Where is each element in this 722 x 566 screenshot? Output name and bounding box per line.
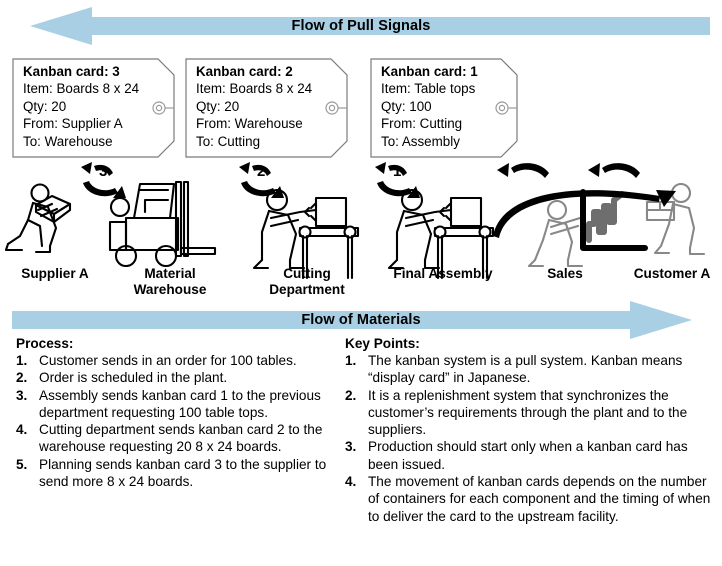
kanban-loop-1-supply-arrow [377,181,420,198]
station-label-supplier-a: Supplier A [0,266,110,282]
station-label-material-warehouse: MaterialWarehouse [110,266,230,298]
station-label-customer-a: Customer A [622,266,722,282]
flow-of-materials-label: Flow of Materials [0,300,722,340]
list-number: 3. [16,387,27,404]
list-item: 3.Production should start only when a ka… [345,438,713,473]
value-stream-figures: 3 2 1 Supplier A MaterialWarehouse Cutti… [0,160,722,300]
process-list: 1.Customer sends in an order for 100 tab… [16,352,346,490]
list-item: 2.It is a replenishment system that sync… [345,387,713,439]
station-label-final-assembly: Final Assembly [378,266,508,282]
list-text: Production should start only when a kanb… [368,439,688,471]
list-text: Cutting department sends kanban card 2 t… [39,422,322,454]
kanban-loop-1-label: 1 [393,163,401,180]
flow-of-pull-signals-banner: Flow of Pull Signals [0,6,722,46]
kanban-card-3-item: Item: Boards 8 x 24 [23,80,139,97]
list-item: 5.Planning sends kanban card 3 to the su… [16,456,346,491]
list-number: 3. [345,438,356,455]
kanban-card-1: Kanban card: 1 Item: Table tops Qty: 100… [370,58,518,158]
kanban-card-3-from: From: Supplier A [23,115,139,132]
list-text: Planning sends kanban card 3 to the supp… [39,457,326,489]
key-points-list: 1.The kanban system is a pull system. Ka… [345,352,713,525]
kanban-card-2-item: Item: Boards 8 x 24 [196,80,312,97]
sales-to-assembly-pull-arrow [497,163,549,178]
process-column: Process: 1.Customer sends in an order fo… [16,336,346,490]
kanban-loop-2-supply-arrow [241,181,284,198]
kanban-card-2-from: From: Warehouse [196,115,312,132]
list-item: 3.Assembly sends kanban card 1 to the pr… [16,387,346,422]
flow-of-pull-signals-label: Flow of Pull Signals [0,6,722,46]
list-text: Order is scheduled in the plant. [39,370,227,385]
flow-of-materials-banner: Flow of Materials [0,300,722,340]
list-text: It is a replenishment system that synchr… [368,388,687,438]
process-heading: Process: [16,336,346,351]
station-label-cutting-department: CuttingDepartment [242,266,372,298]
kanban-card-2-qty: Qty: 20 [196,98,312,115]
key-points-heading: Key Points: [345,336,713,351]
kanban-card-2-to: To: Cutting [196,133,312,150]
kanban-card-3: Kanban card: 3 Item: Boards 8 x 24 Qty: … [12,58,174,158]
kanban-card-1-from: From: Cutting [381,115,478,132]
list-text: Customer sends in an order for 100 table… [39,353,297,368]
customer-carrying-box-icon [647,184,704,254]
list-number: 4. [345,473,356,490]
list-number: 5. [16,456,27,473]
kanban-card-3-qty: Qty: 20 [23,98,139,115]
kanban-loop-3-pull-arrow [81,162,113,176]
list-number: 2. [16,369,27,386]
list-item: 4.Cutting department sends kanban card 2… [16,421,346,456]
worker-at-conveyor-icon [254,190,358,278]
forklift-icon [110,182,215,266]
kanban-loop-3-supply-arrow [83,181,126,198]
kanban-card-2-body: Kanban card: 2 Item: Boards 8 x 24 Qty: … [196,63,312,150]
kanban-card-2-title: Kanban card: 2 [196,63,312,80]
kanban-card-1-title: Kanban card: 1 [381,63,478,80]
key-points-column: Key Points: 1.The kanban system is a pul… [345,336,713,525]
list-text: The movement of kanban cards depends on … [368,474,710,524]
kanban-loop-2-pull-arrow [239,162,271,176]
list-item: 1.Customer sends in an order for 100 tab… [16,352,346,369]
kanban-card-3-body: Kanban card: 3 Item: Boards 8 x 24 Qty: … [23,63,139,150]
list-number: 2. [345,387,356,404]
worker-carrying-box-icon [6,185,70,253]
kanban-loop-3-label: 3 [99,163,107,180]
bar-chart-icon [583,192,645,248]
kanban-loop-1-pull-arrow [375,162,407,176]
list-number: 1. [345,352,356,369]
kanban-card-2: Kanban card: 2 Item: Boards 8 x 24 Qty: … [185,58,347,158]
customer-to-sales-pull-arrow [588,163,640,178]
list-text: The kanban system is a pull system. Kanb… [368,353,682,385]
list-item: 4.The movement of kanban cards depends o… [345,473,713,525]
station-label-sales: Sales [525,266,605,282]
kanban-card-3-title: Kanban card: 3 [23,63,139,80]
salesperson-chart-icon [529,201,582,266]
kanban-loop-2-label: 2 [257,163,265,180]
kanban-card-1-to: To: Assembly [381,133,478,150]
list-text: Assembly sends kanban card 1 to the prev… [39,388,321,420]
worker-at-conveyor-icon [389,190,493,278]
kanban-card-1-qty: Qty: 100 [381,98,478,115]
list-item: 1.The kanban system is a pull system. Ka… [345,352,713,387]
list-number: 4. [16,421,27,438]
kanban-card-3-to: To: Warehouse [23,133,139,150]
list-item: 2.Order is scheduled in the plant. [16,369,346,386]
kanban-card-1-body: Kanban card: 1 Item: Table tops Qty: 100… [381,63,478,150]
list-number: 1. [16,352,27,369]
kanban-card-1-item: Item: Table tops [381,80,478,97]
